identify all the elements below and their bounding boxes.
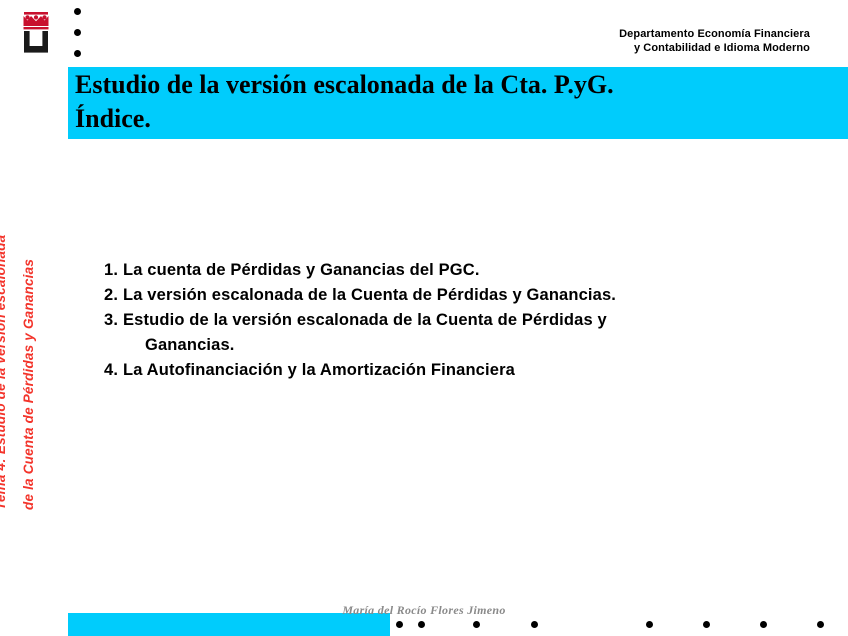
decorative-dot <box>74 8 81 15</box>
list-item-number: 1. <box>104 258 123 283</box>
decorative-dot <box>531 621 538 628</box>
list-item-label: La versión escalonada de la Cuenta de Pé… <box>123 283 824 308</box>
list-item-number: 2. <box>104 283 123 308</box>
decorative-dot <box>760 621 767 628</box>
crown-u-icon <box>16 6 56 56</box>
decorative-dot <box>817 621 824 628</box>
decorative-dot <box>396 621 403 628</box>
list-item: 4. La Autofinanciación y la Amortización… <box>104 358 824 383</box>
page-subtitle: Índice. <box>68 102 848 136</box>
list-item: 3. Estudio de la versión escalonada de l… <box>104 308 824 333</box>
decorative-dot-column <box>74 8 86 71</box>
department-header: Departamento Economía Financiera y Conta… <box>619 28 810 55</box>
author-credit: María del Rocío Flores Jimeno <box>0 603 848 618</box>
decorative-dot <box>703 621 710 628</box>
list-item-label: La Autofinanciación y la Amortización Fi… <box>123 358 824 383</box>
decorative-dot <box>473 621 480 628</box>
side-caption-line-1: Tema 4: Estudio de la versión escalonada <box>0 235 8 510</box>
slide-title-band: Estudio de la versión escalonada de la C… <box>68 67 848 139</box>
department-line-1: Departamento Economía Financiera <box>619 28 810 42</box>
decorative-dot <box>74 50 81 57</box>
decorative-dot <box>646 621 653 628</box>
list-item: 1. La cuenta de Pérdidas y Ganancias del… <box>104 258 824 283</box>
slide-canvas: Departamento Economía Financiera y Conta… <box>0 0 848 636</box>
list-item-continuation: Ganancias. <box>104 333 824 358</box>
decorative-dot <box>74 29 81 36</box>
university-crown-u-logo <box>16 6 56 56</box>
list-item-label: Estudio de la versión escalonada de la C… <box>123 308 824 333</box>
list-item: 2. La versión escalonada de la Cuenta de… <box>104 283 824 308</box>
side-caption-line-2: de la Cuenta de Pérdidas y Ganancias <box>21 259 36 510</box>
department-line-2: y Contabilidad e Idioma Moderno <box>619 42 810 56</box>
list-item-number: 4. <box>104 358 123 383</box>
list-item-label: La cuenta de Pérdidas y Ganancias del PG… <box>123 258 824 283</box>
index-list: 1. La cuenta de Pérdidas y Ganancias del… <box>104 258 824 383</box>
footer-dot-row <box>396 621 848 631</box>
list-item-number: 3. <box>104 308 123 333</box>
decorative-dot <box>418 621 425 628</box>
page-title: Estudio de la versión escalonada de la C… <box>68 67 848 102</box>
